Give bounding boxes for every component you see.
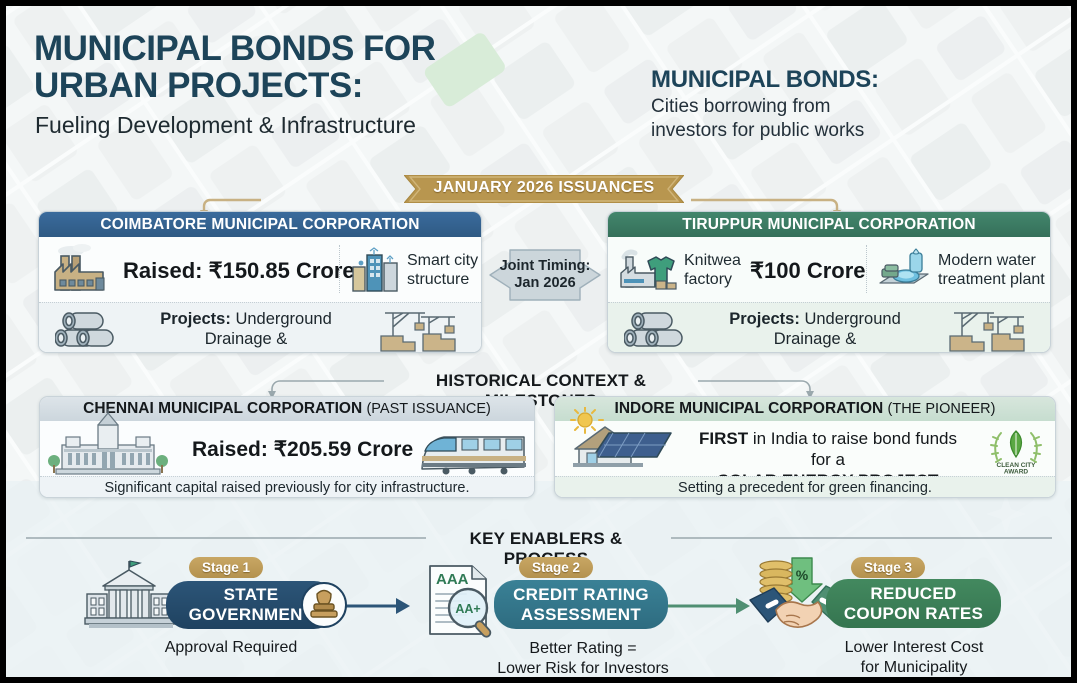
projects-label-tiruppur: Projects: bbox=[729, 310, 800, 328]
card-header-coimbatore: COIMBATORE MUNICIPAL CORPORATION bbox=[39, 212, 481, 237]
knitwear-label-line2: factory bbox=[684, 270, 741, 289]
smart-city-label-line1: Smart city bbox=[407, 251, 478, 270]
joint-timing-line2: Jan 2026 bbox=[488, 275, 602, 292]
card-body-tiruppur: Knitwea factory ₹100 Crore Modern water bbox=[608, 237, 1050, 302]
milestone-card-indore[interactable]: INDORE MUNICIPAL CORPORATION (THE PIONEE… bbox=[554, 396, 1056, 498]
amount-coimbatore: Raised: ₹150.85 Crore bbox=[123, 258, 355, 284]
callout-title: MUNICIPAL BONDS: bbox=[651, 66, 879, 94]
water-plant-label-line2: treatment plant bbox=[938, 270, 1045, 289]
water-plant-label-line1: Modern water bbox=[938, 251, 1045, 270]
metro-train-icon bbox=[412, 425, 530, 480]
indore-body-rest: in India to raise bond funds for a bbox=[748, 429, 957, 469]
page-title: MUNICIPAL BONDS FOR URBAN PROJECTS: bbox=[34, 30, 454, 104]
svg-text:%: % bbox=[796, 567, 809, 583]
caption3-line1: Lower Interest Cost bbox=[794, 638, 1034, 658]
card-body-indore: FIRST in India to raise bond funds for a… bbox=[555, 421, 1055, 476]
pill1-line2: GOVERNMENT bbox=[189, 605, 314, 625]
issuance-card-coimbatore[interactable]: COIMBATORE MUNICIPAL CORPORATION Raised: bbox=[38, 211, 482, 353]
process-caption-1: Approval Required bbox=[116, 638, 346, 658]
process-pill-reduced-coupon[interactable]: REDUCED COUPON RATES bbox=[826, 579, 1001, 628]
process-caption-2: Better Rating = Lower Risk for Investors bbox=[458, 639, 708, 677]
callout-description: Cities borrowing from investors for publ… bbox=[651, 95, 951, 143]
pill3-line1: REDUCED bbox=[844, 584, 983, 604]
chennai-header-paren: (PAST ISSUANCE) bbox=[366, 401, 490, 417]
issuance-card-tiruppur[interactable]: TIRUPPUR MUNICIPAL CORPORATION Knitwea f… bbox=[607, 211, 1051, 353]
projects-line2-coimbatore: Urban Development bbox=[131, 349, 361, 353]
stage-badge-2: Stage 2 bbox=[519, 557, 593, 578]
caption2-line2: Lower Risk for Investors bbox=[458, 659, 708, 677]
knitwear-factory-icon bbox=[618, 243, 680, 302]
smart-city-label-line2: structure bbox=[407, 270, 478, 289]
construction-cranes-icon bbox=[379, 305, 457, 353]
water-treatment-plant-icon bbox=[876, 245, 934, 298]
projects-text-tiruppur: Projects: Underground Drainage & Urban D… bbox=[700, 309, 930, 353]
solar-panel-house-icon bbox=[561, 407, 685, 480]
process-caption-3: Lower Interest Cost for Municipality bbox=[794, 638, 1034, 677]
rubber-stamp-icon bbox=[301, 582, 347, 628]
pill3-line2: COUPON RATES bbox=[844, 604, 983, 624]
projects-label-coimbatore: Projects: bbox=[160, 310, 231, 328]
page-subtitle: Fueling Development & Infrastructure bbox=[35, 112, 465, 139]
factory-icon bbox=[49, 242, 111, 303]
card-footer-chennai: Significant capital raised previously fo… bbox=[40, 476, 534, 498]
caption1-line1: Approval Required bbox=[116, 638, 346, 658]
page-title-line2: URBAN PROJECTS: bbox=[34, 67, 454, 104]
caption3-line2: for Municipality bbox=[794, 658, 1034, 677]
card-body-coimbatore: Raised: ₹150.85 Crore bbox=[39, 237, 481, 302]
joint-timing-badge: Joint Timing: Jan 2026 bbox=[488, 244, 602, 306]
construction-cranes-icon bbox=[948, 305, 1026, 353]
amount-chennai: Raised: ₹205.59 Crore bbox=[192, 437, 413, 462]
heritage-building-icon bbox=[46, 409, 170, 480]
doc-rating-text: AAA bbox=[436, 571, 469, 588]
projects-text-coimbatore: Projects: Underground Drainage & Urban D… bbox=[131, 309, 361, 353]
indore-header-paren: (THE PIONEER) bbox=[888, 401, 996, 417]
stage-badge-1: Stage 1 bbox=[189, 557, 263, 578]
pill2-line2: ASSESSMENT bbox=[513, 605, 649, 625]
card-body-chennai: Raised: ₹205.59 Crore bbox=[40, 421, 534, 476]
card-projects-coimbatore: Projects: Underground Drainage & Urban D… bbox=[39, 302, 481, 353]
water-plant-label: Modern water treatment plant bbox=[938, 251, 1045, 289]
indore-first-word: FIRST bbox=[699, 429, 748, 448]
infographic-canvas: MUNICIPAL BONDS FOR URBAN PROJECTS: Fuel… bbox=[6, 6, 1071, 677]
svg-text:AWARD: AWARD bbox=[1004, 469, 1029, 476]
magnifier-rating-text: AA+ bbox=[455, 602, 480, 616]
pill2-line1: CREDIT RATING bbox=[513, 585, 649, 605]
callout-line-1: Cities borrowing from bbox=[651, 95, 951, 119]
callout-line-2: investors for public works bbox=[651, 119, 951, 143]
knitwear-label-line1: Knitwea bbox=[684, 251, 741, 270]
card-projects-tiruppur: Projects: Underground Drainage & Urban D… bbox=[608, 302, 1050, 353]
card-header-tiruppur: TIRUPPUR MUNICIPAL CORPORATION bbox=[608, 212, 1050, 237]
smart-city-buildings-icon bbox=[349, 245, 401, 300]
smart-city-label: Smart city structure bbox=[407, 251, 478, 289]
stage-badge-3: Stage 3 bbox=[851, 557, 925, 578]
joint-timing-text: Joint Timing: Jan 2026 bbox=[488, 258, 602, 292]
milestone-card-chennai[interactable]: CHENNAI MUNICIPAL CORPORATION (PAST ISSU… bbox=[39, 396, 535, 498]
amount-tiruppur: ₹100 Crore bbox=[750, 258, 866, 284]
clean-city-award-icon: CLEAN CITY AWARD bbox=[985, 423, 1047, 475]
drainage-pipes-icon bbox=[55, 310, 117, 353]
card-footer-indore: Setting a precedent for green financing. bbox=[555, 476, 1055, 498]
joint-timing-line1: Joint Timing: bbox=[488, 258, 602, 275]
pill1-line1: STATE bbox=[189, 585, 314, 605]
process-pill-credit-rating[interactable]: CREDIT RATING ASSESSMENT bbox=[494, 580, 668, 629]
drainage-pipes-icon bbox=[624, 310, 686, 353]
knitwear-label: Knitwea factory bbox=[684, 251, 741, 289]
caption2-line1: Better Rating = bbox=[458, 639, 708, 659]
projects-line2-tiruppur: Urban Development bbox=[700, 349, 930, 353]
page-title-line1: MUNICIPAL BONDS FOR bbox=[34, 30, 454, 67]
